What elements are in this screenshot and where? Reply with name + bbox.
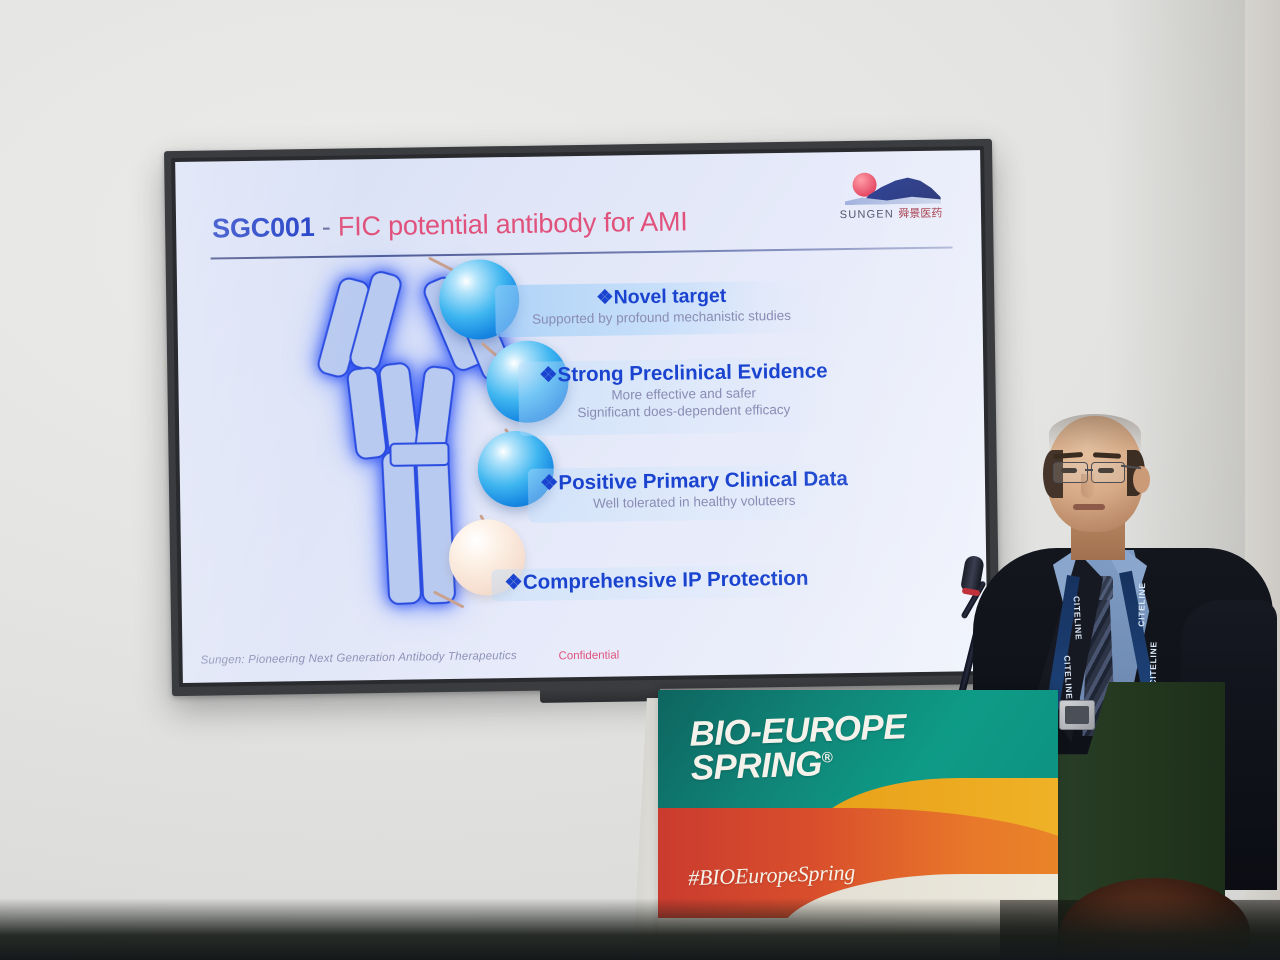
bullet-block-4: ❖Comprehensive IP Protection bbox=[491, 564, 821, 601]
bullet-heading: ❖Comprehensive IP Protection bbox=[491, 564, 821, 597]
hair bbox=[1049, 414, 1141, 454]
mouth bbox=[1073, 504, 1105, 510]
lanyard-brand-text: CITELINE bbox=[1136, 582, 1147, 626]
bullet-block-2: ❖Strong Preclinical Evidence More effect… bbox=[518, 357, 849, 436]
foreground-floor bbox=[0, 898, 1280, 960]
ear bbox=[1133, 466, 1150, 493]
sun-and-mountain-logo-icon bbox=[840, 169, 944, 205]
lanyard-brand-text: CITELINE bbox=[1148, 641, 1159, 685]
display-screen: SGC001 - FIC potential antibody for AMI … bbox=[164, 139, 1000, 696]
banner-title: BIO-EUROPE SPRING® bbox=[689, 706, 1021, 785]
bullet-block-3: ❖Positive Primary Clinical Data Well tol… bbox=[528, 464, 861, 523]
bullet-block-1: ❖Novel target Supported by profound mech… bbox=[495, 280, 828, 337]
logo-wordmark-en: SUNGEN bbox=[840, 208, 894, 221]
logo-wordmark: SUNGEN 舜景医药 bbox=[823, 204, 959, 222]
slide-footer-left: Sungen: Pioneering Next Generation Antib… bbox=[200, 650, 517, 667]
nose bbox=[1081, 474, 1094, 498]
eyeglasses-bridge bbox=[1085, 469, 1093, 471]
slide-canvas: SGC001 - FIC potential antibody for AMI … bbox=[175, 150, 988, 683]
presentation-slide: SGC001 - FIC potential antibody for AMI … bbox=[175, 150, 988, 683]
eyeglasses-lens-right bbox=[1091, 462, 1125, 483]
sungen-logo: SUNGEN 舜景医药 bbox=[822, 168, 959, 232]
registered-mark: ® bbox=[821, 749, 832, 766]
slide-footer-confidential: Confidential bbox=[558, 649, 619, 662]
screen-bezel: SGC001 - FIC potential antibody for AMI … bbox=[171, 146, 992, 687]
presentation-photo-scene: SGC001 - FIC potential antibody for AMI … bbox=[0, 0, 1280, 960]
slide-title-code: SGC001 bbox=[212, 212, 315, 244]
banner-title-line2: SPRING bbox=[690, 744, 822, 788]
logo-wordmark-cn: 舜景医药 bbox=[898, 208, 942, 221]
slide-title-dash: - bbox=[314, 212, 338, 242]
